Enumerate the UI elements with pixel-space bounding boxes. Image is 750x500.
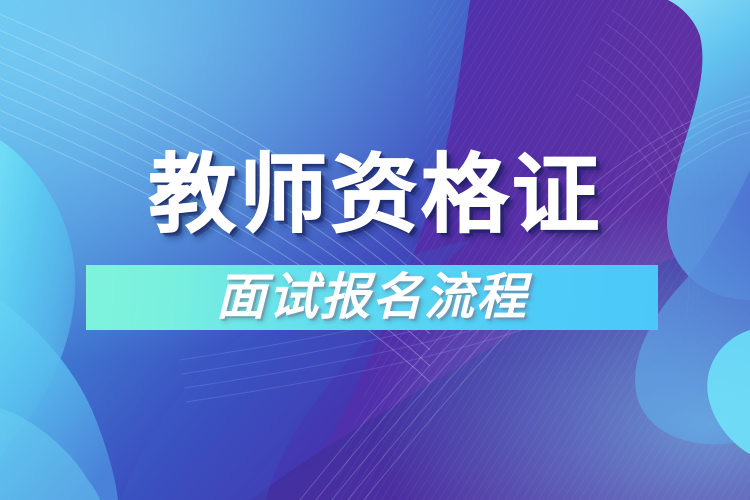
subtitle-band: 面试报名流程 [86,265,658,330]
title-block: 教师资格证 [0,152,750,238]
subtitle-text: 面试报名流程 [216,272,528,322]
promotional-banner: 教师资格证 面试报名流程 [0,0,750,500]
background-artwork [0,0,750,500]
page-title: 教师资格证 [148,152,602,238]
